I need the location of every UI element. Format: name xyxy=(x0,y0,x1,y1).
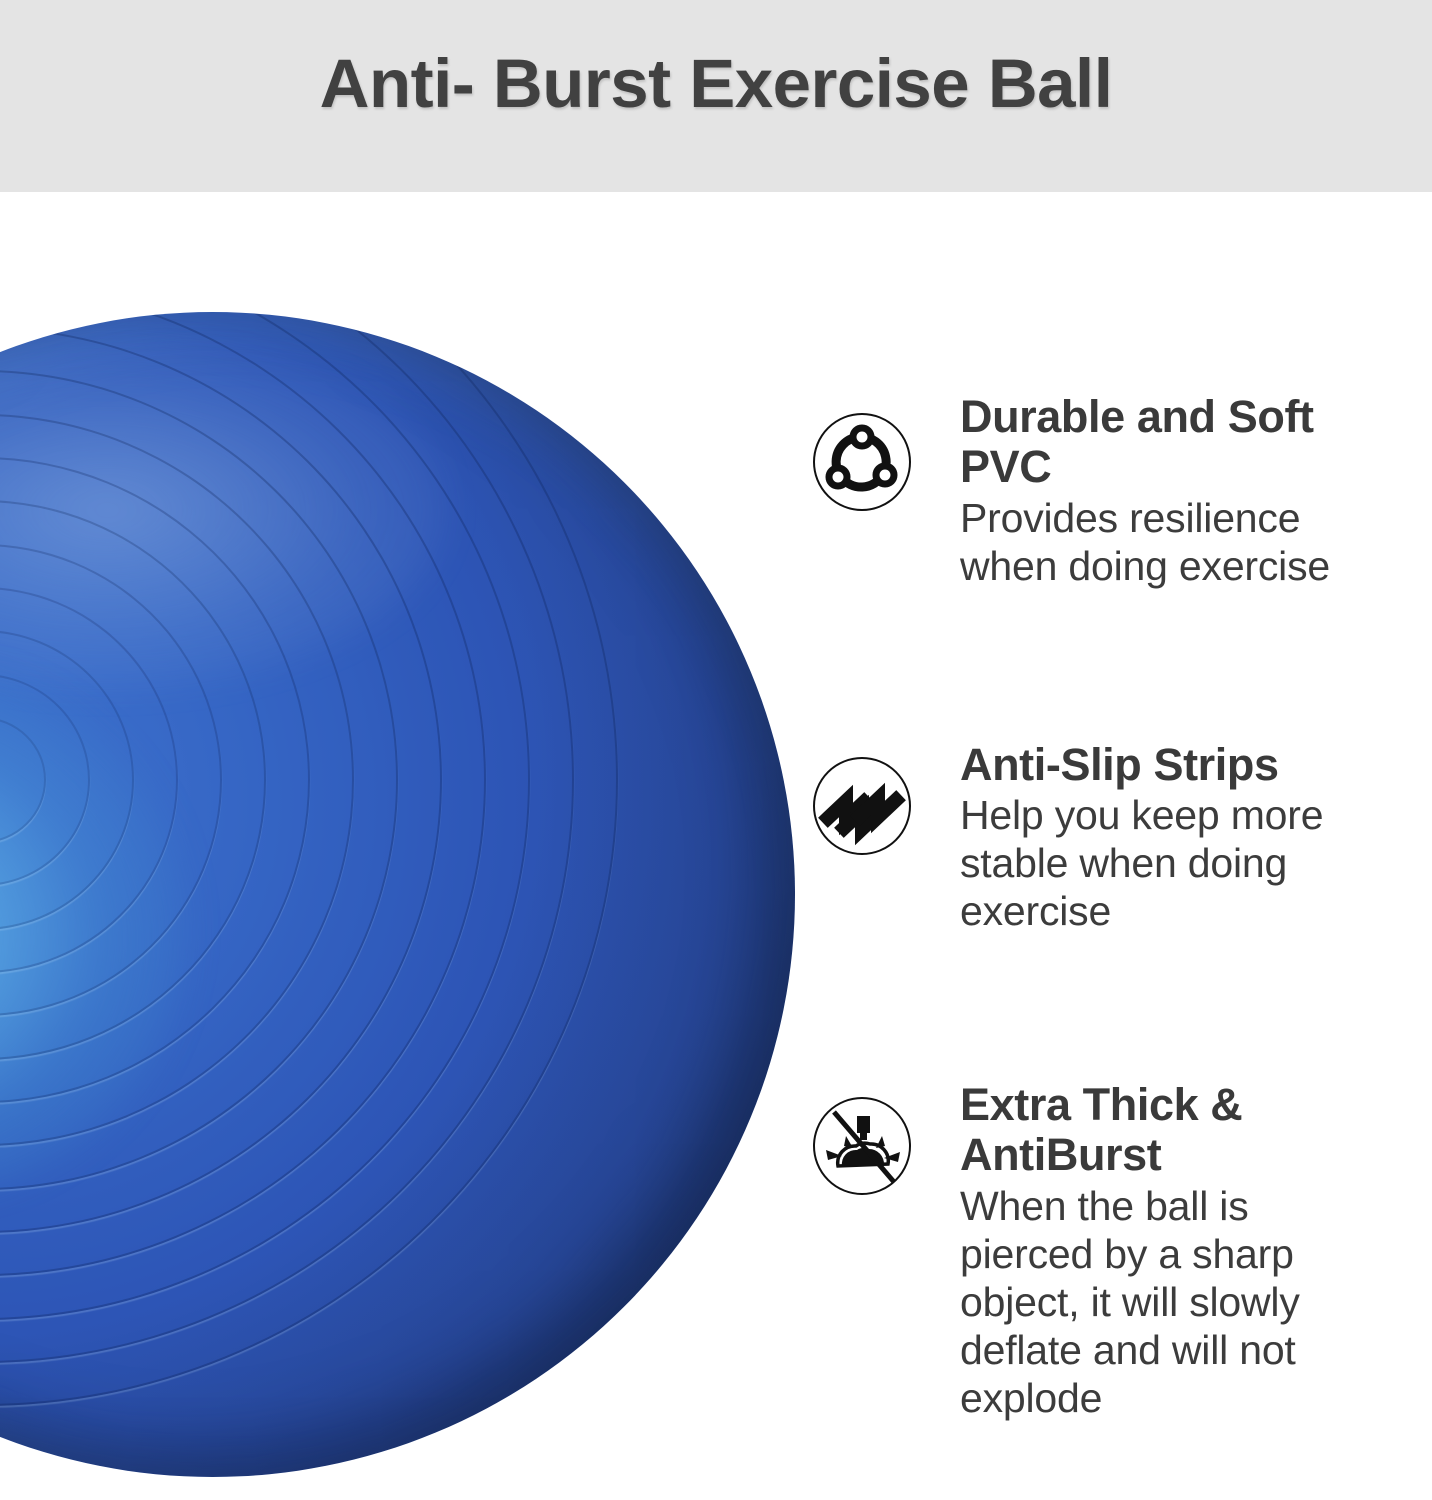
anti-slip-strips-icon xyxy=(812,756,912,856)
feature-heading: Durable and Soft PVC xyxy=(960,392,1320,493)
feature-heading: Anti-Slip Strips xyxy=(960,740,1320,790)
feature-body: Provides resilience when doing exercise xyxy=(960,495,1340,591)
feature-text-block: Extra Thick & AntiBurst When the ball is… xyxy=(960,1080,1432,1423)
feature-text-block: Durable and Soft PVC Provides resilience… xyxy=(960,392,1432,591)
feature-item-durable-soft-pvc: Durable and Soft PVC Provides resilience… xyxy=(800,392,1432,591)
product-infographic: Anti- Burst Exercise Ball xyxy=(0,0,1432,1500)
ball-shading xyxy=(0,312,795,1477)
product-image-area xyxy=(0,192,800,1500)
feature-list: Durable and Soft PVC Provides resilience… xyxy=(800,192,1432,1500)
feature-item-extra-thick-antiburst: Extra Thick & AntiBurst When the ball is… xyxy=(800,1080,1432,1423)
feature-body: When the ball is pierced by a sharp obje… xyxy=(960,1183,1340,1423)
header-band: Anti- Burst Exercise Ball xyxy=(0,0,1432,192)
feature-item-anti-slip-strips: Anti-Slip Strips Help you keep more stab… xyxy=(800,740,1432,936)
feature-body: Help you keep more stable when doing exe… xyxy=(960,792,1340,936)
feature-heading: Extra Thick & AntiBurst xyxy=(960,1080,1320,1181)
feature-text-block: Anti-Slip Strips Help you keep more stab… xyxy=(960,740,1432,936)
three-node-ring-icon xyxy=(812,412,912,512)
page-title: Anti- Burst Exercise Ball xyxy=(0,44,1432,123)
no-burst-icon xyxy=(812,1096,912,1196)
exercise-ball-image xyxy=(0,312,795,1477)
